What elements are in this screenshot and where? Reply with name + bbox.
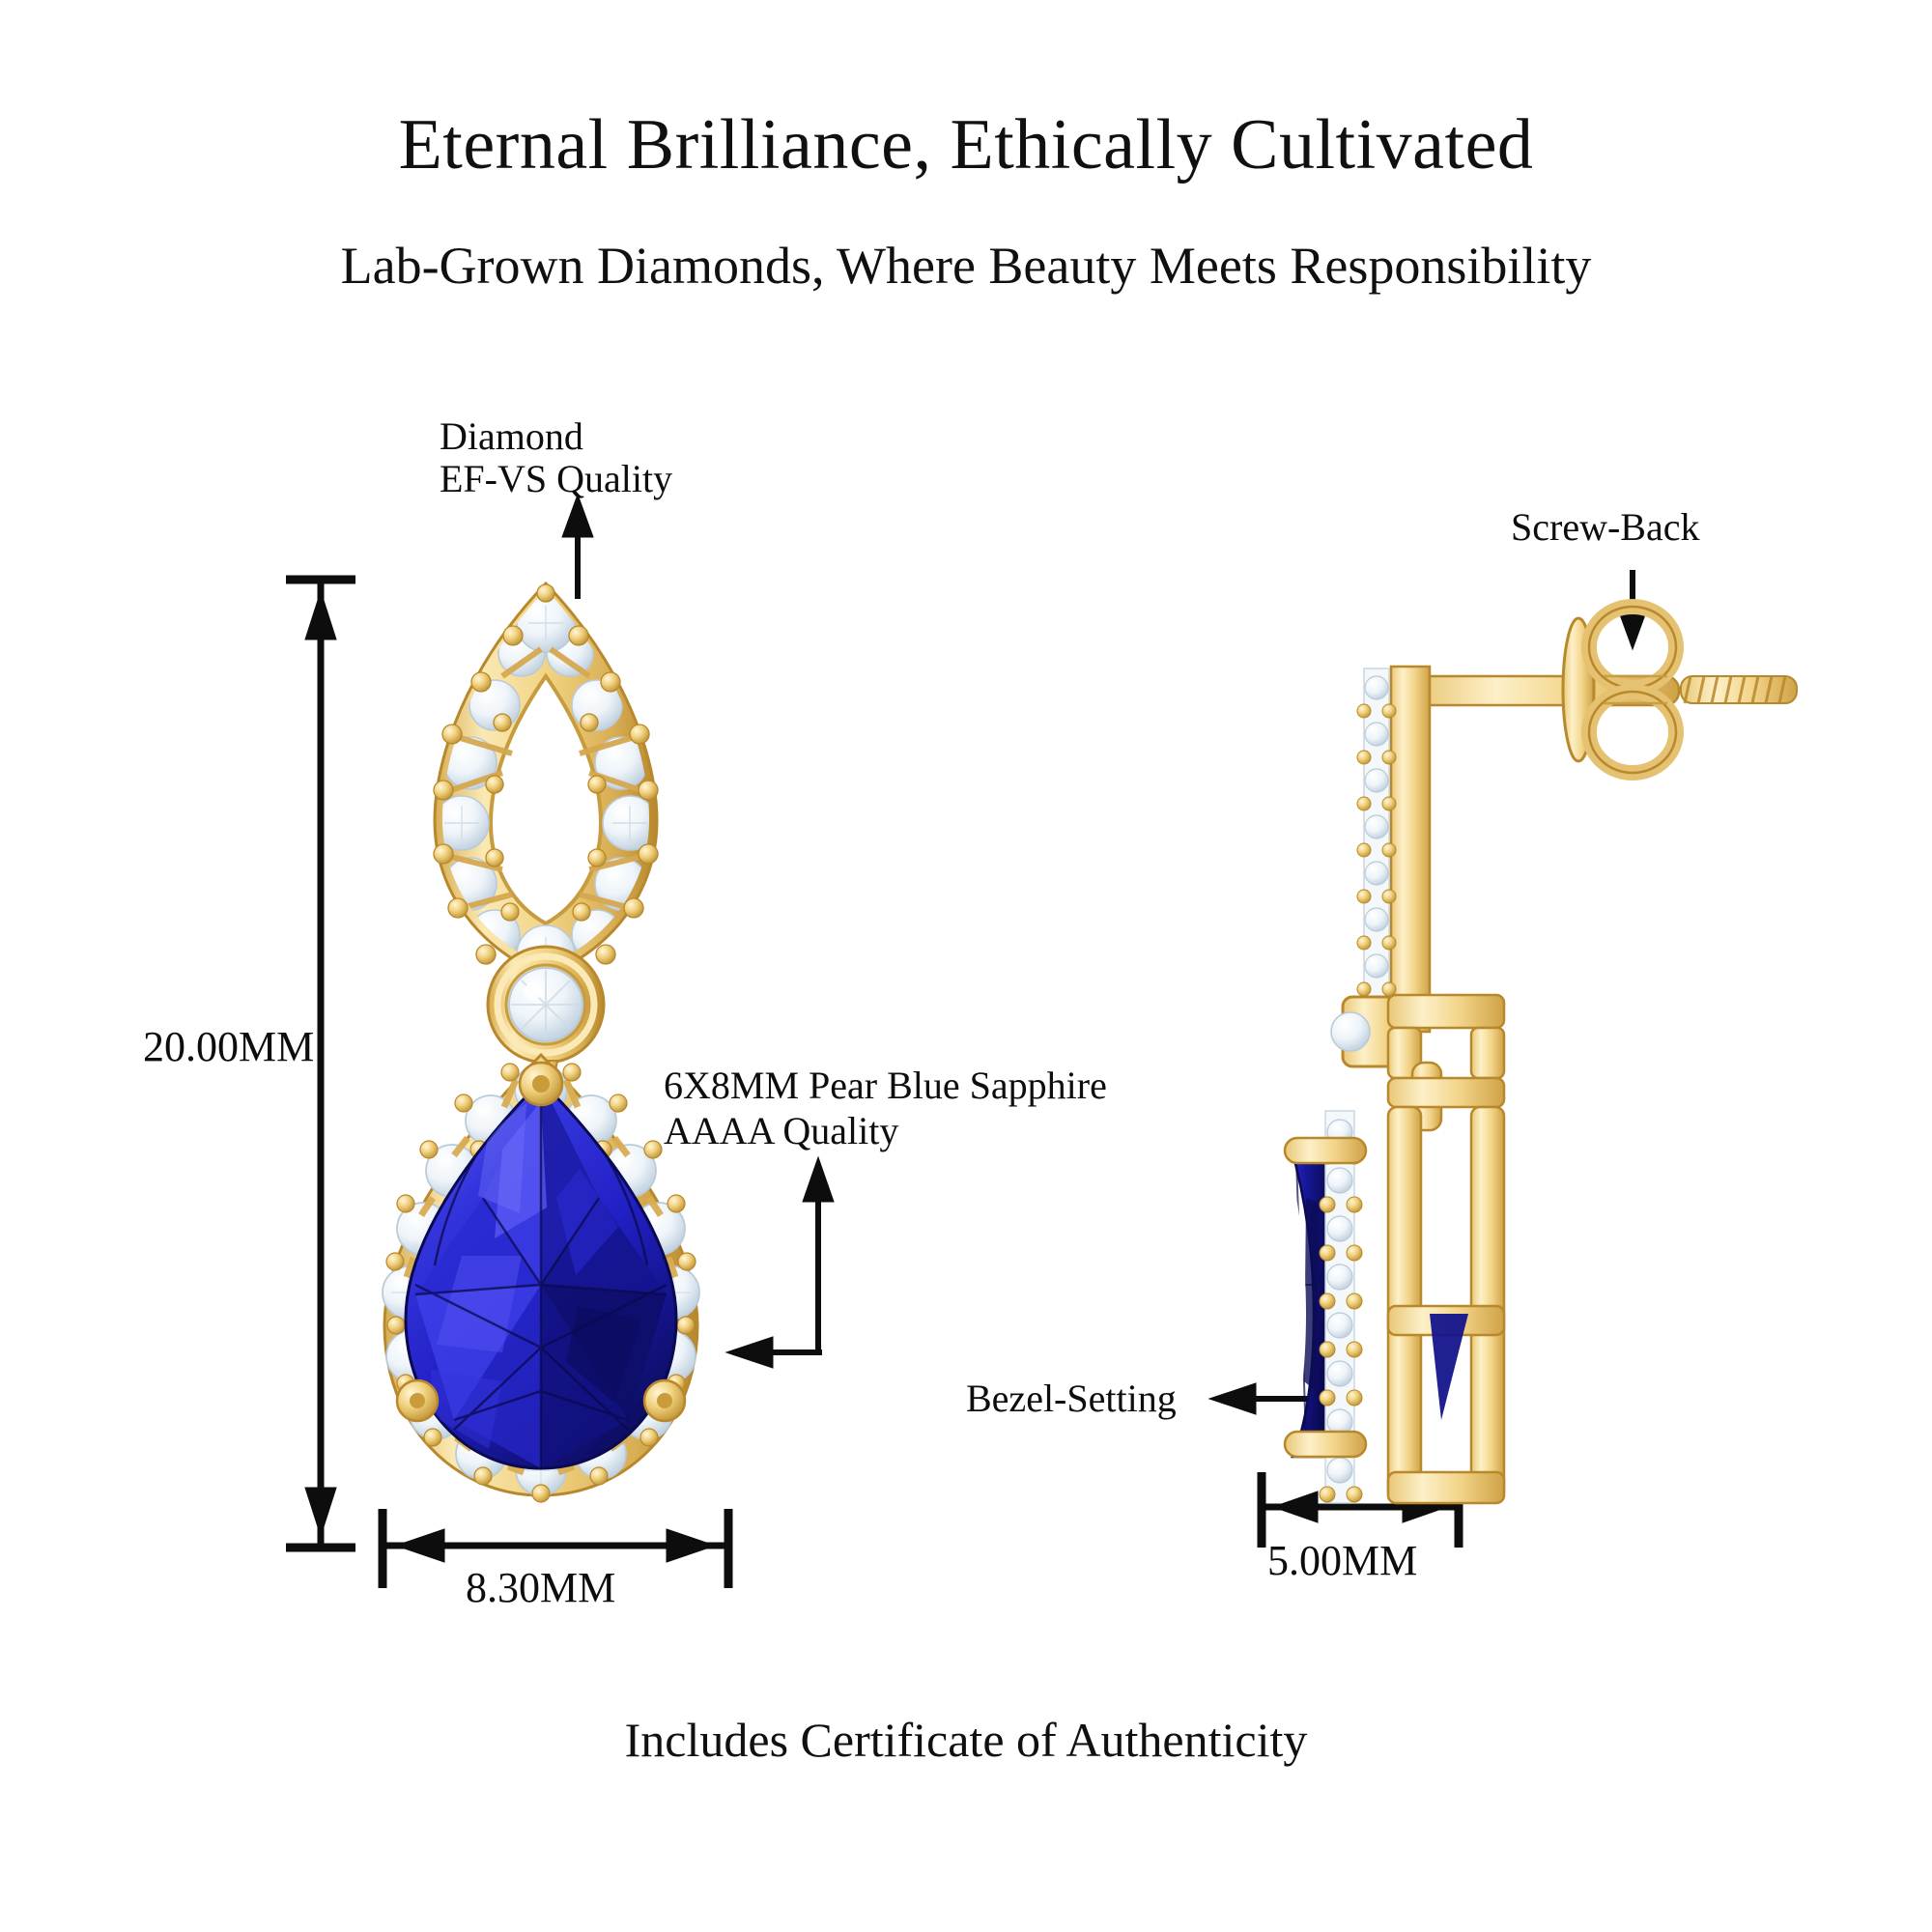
side-pear-sapphire <box>1285 1146 1468 1457</box>
page-title: Eternal Brilliance, Ethically Cultivated <box>0 104 1932 186</box>
annotation-sapphire-line2: AAAA Quality <box>664 1108 898 1155</box>
side-view-earring <box>1285 607 1797 1503</box>
diagram-canvas: Eternal Brilliance, Ethically Cultivated… <box>0 0 1932 1932</box>
pear-halo-frame <box>384 1055 697 1495</box>
annotation-diamond-line2: EF-VS Quality <box>440 456 672 503</box>
sapphire-facets <box>415 1081 667 1468</box>
side-bezel-diamond <box>1331 997 1412 1066</box>
pear-blue-sapphire <box>406 1081 676 1468</box>
annotation-diamond-line1: Diamond <box>440 413 583 461</box>
marquise-pave-diamonds <box>435 594 657 993</box>
side-gallery-structure <box>1388 995 1504 1503</box>
bezel-set-diamond <box>488 947 604 1063</box>
dimension-height-label: 20.00MM <box>143 1022 314 1071</box>
dimension-depth-label: 5.00MM <box>1267 1536 1417 1585</box>
side-halo-strip <box>1320 1111 1362 1503</box>
sapphire-main-prongs <box>397 1063 685 1421</box>
annotation-sapphire-line1: 6X8MM Pear Blue Sapphire <box>664 1063 1107 1110</box>
bezel-setting-arms <box>1285 1138 1366 1457</box>
leader-lines <box>562 495 1648 1414</box>
annotation-bezel-setting: Bezel-Setting <box>966 1376 1177 1423</box>
front-view-earring <box>383 583 699 1502</box>
page-subtitle: Lab-Grown Diamonds, Where Beauty Meets R… <box>0 236 1932 296</box>
certificate-note: Includes Certificate of Authenticity <box>0 1712 1932 1768</box>
marquise-prongs <box>434 584 658 986</box>
screw-back-clutch <box>1563 607 1676 773</box>
halo-prongs <box>386 1064 696 1502</box>
halo-connector-link <box>534 1061 557 1082</box>
side-pave-strip <box>1357 668 1396 1028</box>
side-marquise-edge <box>1357 667 1430 1032</box>
threaded-post-tail <box>1681 676 1797 703</box>
pear-halo-diamonds <box>383 1064 699 1502</box>
sapphire-culet <box>1430 1314 1468 1420</box>
annotation-screw-back: Screw-Back <box>1511 504 1699 552</box>
marquise-diamond-frame <box>434 583 658 993</box>
dimension-width-label: 8.30MM <box>466 1563 615 1612</box>
earring-post <box>1418 676 1679 705</box>
connector-link <box>533 974 558 993</box>
